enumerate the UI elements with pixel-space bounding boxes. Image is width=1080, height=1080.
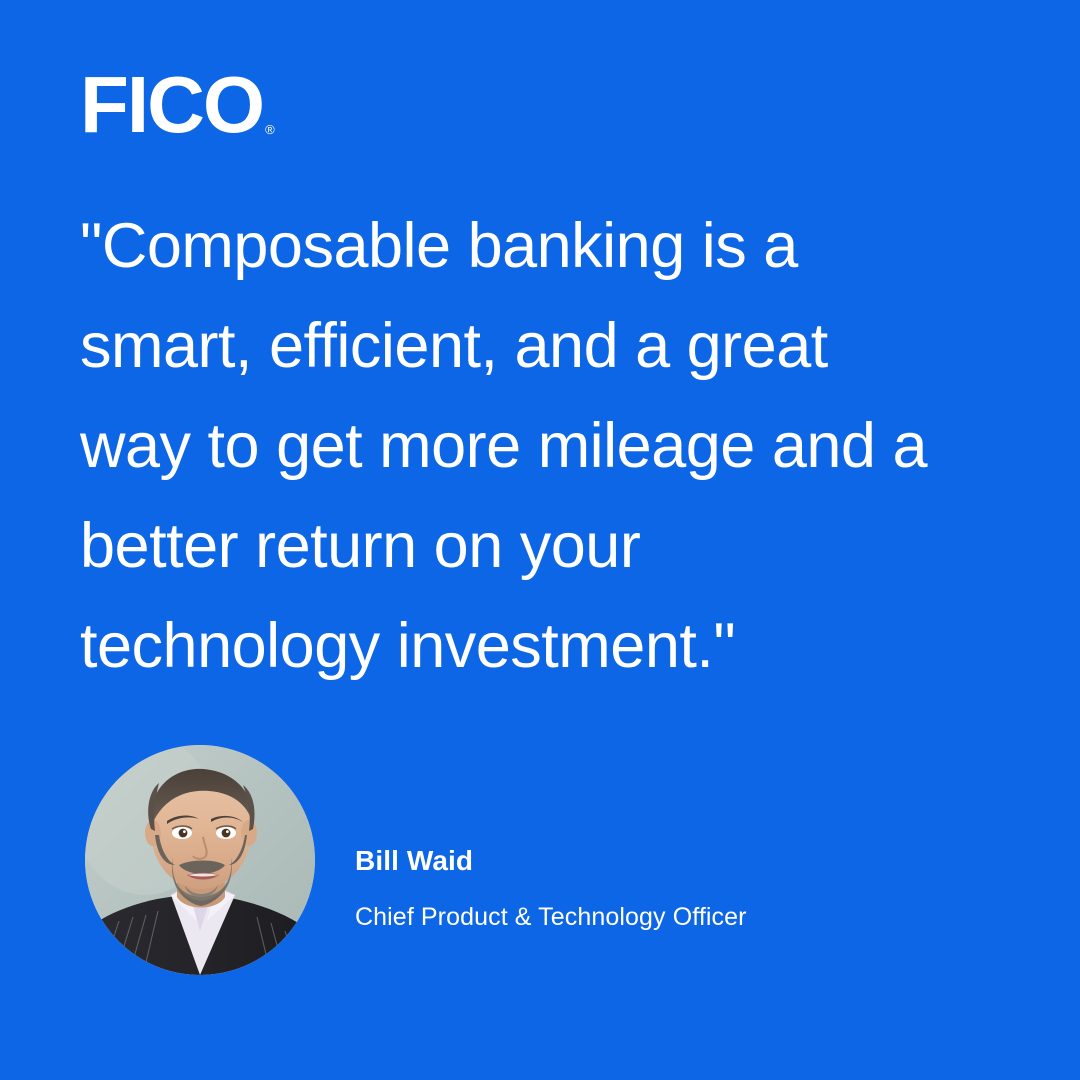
- avatar: [85, 745, 315, 975]
- person-name: Bill Waid: [355, 844, 747, 878]
- registered-trademark-icon: ®: [265, 123, 275, 136]
- person-title: Chief Product & Technology Officer: [355, 902, 747, 932]
- quote-line: technology investment.": [80, 596, 1020, 696]
- avatar-photo: [85, 745, 315, 975]
- attribution-block: Bill Waid Chief Product & Technology Off…: [85, 745, 985, 975]
- quote-line: better return on your: [80, 496, 1020, 596]
- quote-line: way to get more mileage and a: [80, 396, 1020, 496]
- attribution-text: Bill Waid Chief Product & Technology Off…: [355, 788, 747, 932]
- quote-card: FICO ® "Composable banking is a smart, e…: [0, 0, 1080, 1080]
- fico-logo: FICO ®: [80, 72, 275, 138]
- fico-logo-wordmark: FICO: [80, 72, 263, 138]
- quote-line: smart, efficient, and a great: [80, 296, 1020, 396]
- quote-block: "Composable banking is a smart, efficien…: [80, 196, 1020, 696]
- quote-line: "Composable banking is a: [80, 196, 1020, 296]
